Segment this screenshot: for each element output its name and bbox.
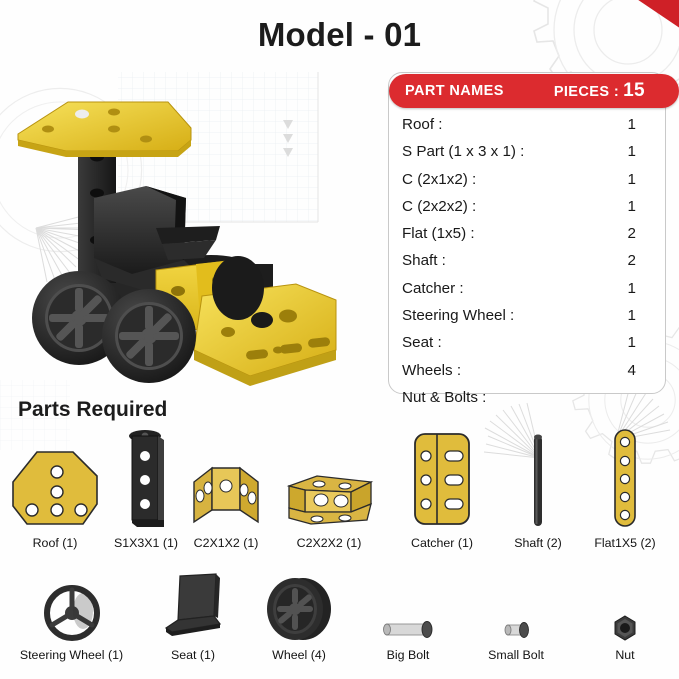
part-item-seat: Seat (1) [143,570,243,662]
part-item-wheel: Wheel (4) [243,570,355,662]
wheel-icon [265,570,333,642]
table-row: Shaft : 2 [402,252,654,279]
steering-wheel-icon [43,570,101,642]
part-name: Catcher : [402,280,464,297]
table-row: Catcher : 1 [402,280,654,307]
page-title: Model - 01 [0,16,679,54]
part-caption: Catcher (1) [411,536,473,550]
shaft-rod-icon [528,424,548,530]
part-caption: Big Bolt [387,648,430,662]
table-row: Wheels : 4 [402,362,654,389]
part-caption: S1X3X1 (1) [114,536,178,550]
big-bolt-icon [379,570,437,642]
part-caption: Seat (1) [171,648,215,662]
table-row: Nut & Bolts : [402,389,654,416]
part-name: Seat : [402,334,442,351]
part-caption: Flat1X5 (2) [594,536,655,550]
roof-plate-icon [7,424,103,530]
part-caption: Roof (1) [33,536,78,550]
part-item-c2x1x2: C2X1X2 (1) [182,424,270,550]
parts-gallery-row-1: Roof (1) S1X3X1 (1) [0,424,679,550]
part-caption: Small Bolt [488,648,544,662]
part-item-nut: Nut [571,570,679,662]
part-item-roof: Roof (1) [0,424,110,550]
part-caption: Nut [615,648,634,662]
part-qty: 1 [628,171,636,188]
part-qty: 4 [628,362,636,379]
part-item-catcher: Catcher (1) [388,424,496,550]
small-bolt-icon [498,570,534,642]
part-item-c2x2x2: C2X2X2 (1) [270,424,388,550]
parts-gallery-row-2: Steering Wheel (1) Seat (1) [0,570,679,662]
s-strip-icon [123,424,169,530]
pieces-label: PIECES : [554,84,619,100]
table-row: Roof : 1 [402,116,654,143]
part-qty: 1 [628,143,636,160]
part-name: Roof : [402,116,443,133]
part-qty: 1 [628,116,636,133]
part-name: Nut & Bolts : [402,389,486,406]
part-caption: C2X2X2 (1) [297,536,362,550]
table-row: S Part (1 x 3 x 1) : 1 [402,143,654,170]
part-item-steering-wheel: Steering Wheel (1) [0,570,143,662]
flat-strip-icon [610,424,640,530]
part-item-small-bolt: Small Bolt [461,570,571,662]
part-qty: 1 [628,307,636,324]
part-name: Flat (1x5) : [402,225,475,242]
parts-table-header-left: PART NAMES [405,83,504,99]
part-name: S Part (1 x 3 x 1) : [402,143,524,160]
parts-table-rows: Roof : 1 S Part (1 x 3 x 1) : 1 C (2x1x2… [402,116,654,416]
c-bracket-large-icon [281,424,377,530]
part-name: C (2x2x2) : [402,198,476,215]
model-instruction-page: Model - 01 [0,0,679,679]
table-row: Steering Wheel : 1 [402,307,654,334]
catcher-plate-icon [407,424,477,530]
seat-icon [158,570,228,642]
table-row: Seat : 1 [402,334,654,361]
part-item-big-bolt: Big Bolt [355,570,461,662]
part-caption: Wheel (4) [272,648,326,662]
part-name: Steering Wheel : [402,307,514,324]
pieces-count: 15 [623,80,645,102]
part-name: Shaft : [402,252,446,269]
nut-icon [611,570,639,642]
parts-required-gallery: Roof (1) S1X3X1 (1) [0,424,679,662]
part-name: C (2x1x2) : [402,171,476,188]
parts-table-header: PART NAMES PIECES : 15 [389,74,679,108]
table-row: Flat (1x5) : 2 [402,225,654,252]
bulldozer-model-illustration [6,88,376,393]
part-caption: C2X1X2 (1) [194,536,259,550]
part-qty: 1 [628,280,636,297]
part-qty: 1 [628,334,636,351]
parts-required-heading: Parts Required [18,398,167,422]
table-row: C (2x1x2) : 1 [402,171,654,198]
part-item-s1x3x1: S1X3X1 (1) [110,424,182,550]
parts-table-header-right: PIECES : 15 [554,80,645,102]
part-item-flat1x5: Flat1X5 (2) [580,424,670,550]
part-item-shaft: Shaft (2) [496,424,580,550]
c-bracket-small-icon [188,424,264,530]
part-caption: Shaft (2) [514,536,562,550]
part-qty: 2 [628,225,636,242]
part-qty: 1 [628,198,636,215]
part-caption: Steering Wheel (1) [20,648,123,662]
part-name: Wheels : [402,362,461,379]
part-qty: 2 [628,252,636,269]
table-row: C (2x2x2) : 1 [402,198,654,225]
